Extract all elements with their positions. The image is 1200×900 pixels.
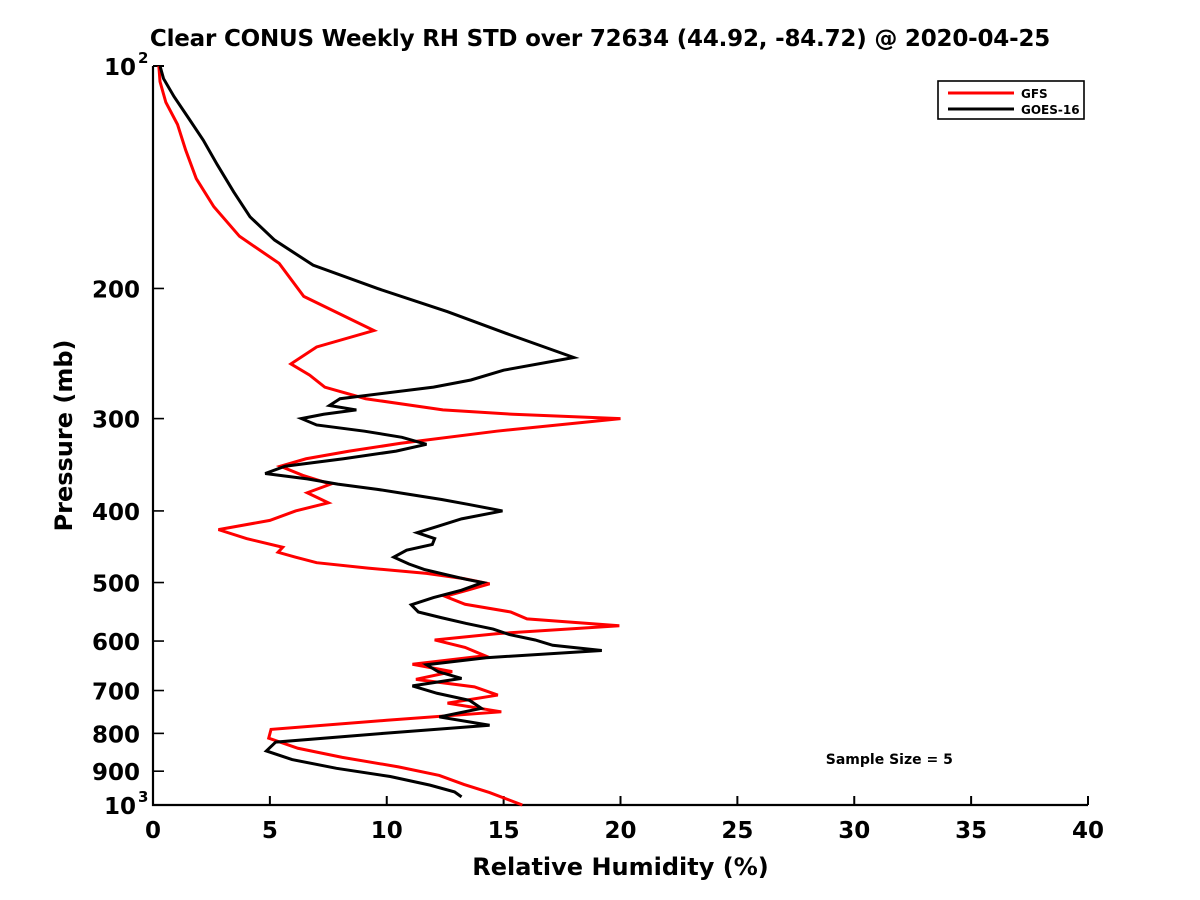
y-tick-label-100: 102 (104, 49, 148, 81)
x-tick-label-5: 5 (262, 818, 278, 844)
legend-label-gfs: GFS (1021, 87, 1048, 101)
x-tick-label-0: 0 (145, 818, 161, 844)
legend-label-goes-16: GOES-16 (1021, 103, 1080, 117)
data-series-group (159, 66, 621, 805)
svg-text:10: 10 (104, 55, 136, 81)
svg-text:10: 10 (104, 794, 136, 820)
y-tick-label-1000: 103 (104, 788, 148, 820)
x-tick-label-30: 30 (838, 818, 870, 844)
annotation-sample-size: Sample Size = 5 (826, 752, 953, 768)
svg-text:3: 3 (138, 788, 148, 806)
y-tick-label-800: 800 (92, 722, 140, 748)
figure-canvas: Clear CONUS Weekly RH STD over 72634 (44… (0, 0, 1200, 900)
y-axis-title: Pressure (mb) (50, 340, 78, 532)
y-tick-label-400: 400 (92, 500, 140, 526)
x-tick-label-35: 35 (955, 818, 987, 844)
x-tick-label-20: 20 (604, 818, 636, 844)
plot-area: 0510152025303540102200300400500600700800… (0, 0, 1200, 900)
axes (153, 66, 1088, 805)
svg-text:2: 2 (138, 49, 148, 67)
series-line-goes-16 (160, 66, 602, 797)
y-tick-label-200: 200 (92, 277, 140, 303)
y-tick-label-900: 900 (92, 760, 140, 786)
y-tick-label-600: 600 (92, 630, 140, 656)
y-tick-label-300: 300 (92, 408, 140, 434)
axis-frame (153, 66, 1088, 805)
y-tick-label-500: 500 (92, 572, 140, 598)
annotation-text: Sample Size = 5 (826, 752, 953, 768)
x-tick-label-25: 25 (721, 818, 753, 844)
legend[interactable]: GFSGOES-16 (938, 81, 1084, 119)
y-tick-label-700: 700 (92, 680, 140, 706)
x-tick-label-40: 40 (1072, 818, 1104, 844)
x-tick-label-10: 10 (371, 818, 403, 844)
x-tick-label-15: 15 (488, 818, 520, 844)
x-axis-title: Relative Humidity (%) (472, 853, 768, 881)
